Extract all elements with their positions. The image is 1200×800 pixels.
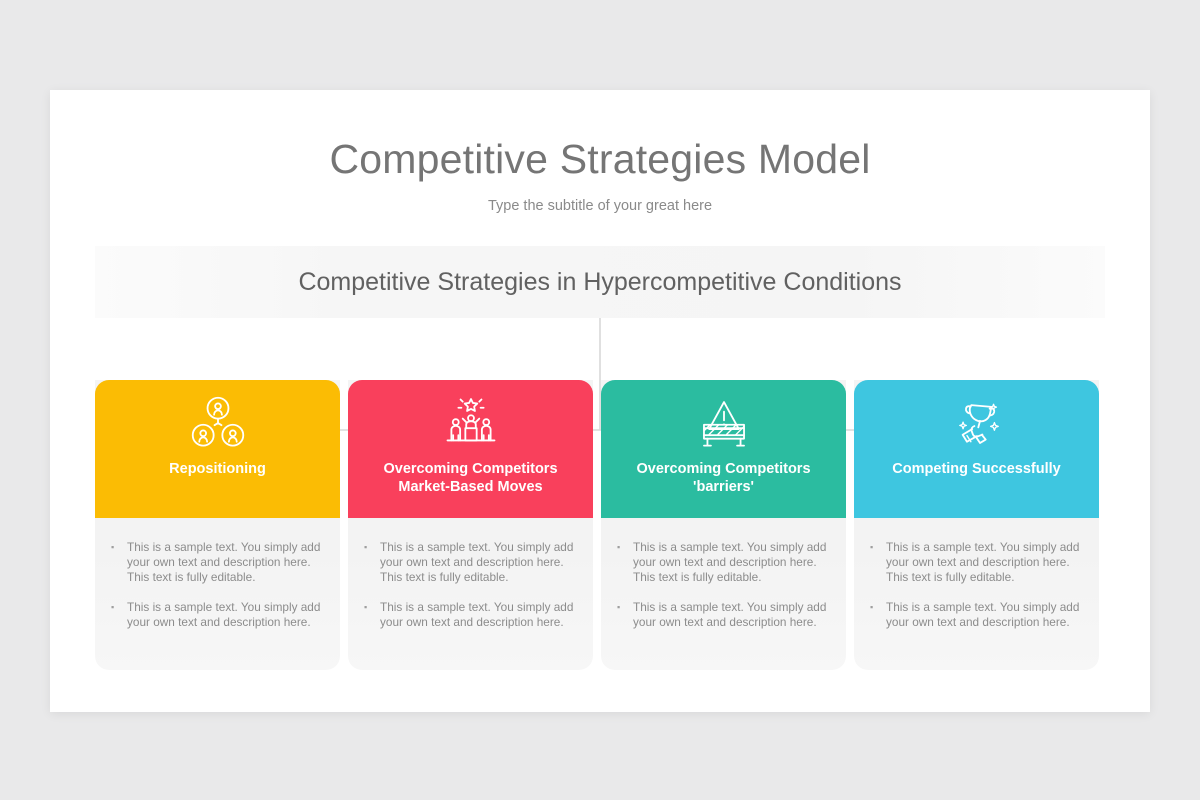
card-barriers[interactable]: Overcoming Competitors 'barriers' (601, 380, 846, 518)
page-title: Competitive Strategies Model (50, 136, 1150, 183)
bullet-text: This is a sample text. You simply add yo… (886, 600, 1081, 630)
bullet-marker: ▪ (870, 600, 886, 630)
list-item: ▪ This is a sample text. You simply add … (870, 600, 1081, 630)
bullet-marker: ▪ (111, 540, 127, 584)
hand-trophy-icon (947, 394, 1007, 452)
card-market-based-moves[interactable]: Overcoming Competitors Market-Based Move… (348, 380, 593, 518)
list-item: ▪ This is a sample text. You simply add … (111, 540, 322, 584)
people-network-icon (188, 394, 248, 452)
list-item: ▪ This is a sample text. You simply add … (617, 540, 828, 584)
bullet-marker: ▪ (617, 600, 633, 630)
column-repositioning: Repositioning ▪ This is a sample text. Y… (95, 380, 340, 646)
column-competing-successfully: Competing Successfully ▪ This is a sampl… (854, 380, 1099, 646)
bullet-text: This is a sample text. You simply add yo… (633, 540, 828, 584)
bullet-list: ▪ This is a sample text. You simply add … (854, 518, 1099, 630)
bullet-list: ▪ This is a sample text. You simply add … (95, 518, 340, 630)
bullet-text: This is a sample text. You simply add yo… (127, 540, 322, 584)
bullet-marker: ▪ (364, 600, 380, 630)
card-title: Repositioning (161, 460, 274, 478)
bullet-marker: ▪ (364, 540, 380, 584)
page-subtitle: Type the subtitle of your great here (50, 198, 1150, 214)
card-title: Overcoming Competitors 'barriers' (601, 460, 846, 496)
bullet-text: This is a sample text. You simply add yo… (633, 600, 828, 630)
list-item: ▪ This is a sample text. You simply add … (364, 600, 575, 630)
card-repositioning[interactable]: Repositioning (95, 380, 340, 518)
slide-canvas: Competitive Strategies Model Type the su… (50, 90, 1150, 712)
list-item: ▪ This is a sample text. You simply add … (870, 540, 1081, 584)
bullet-list: ▪ This is a sample text. You simply add … (601, 518, 846, 630)
card-title: Competing Successfully (884, 460, 1068, 478)
card-title: Overcoming Competitors Market-Based Move… (348, 460, 593, 496)
banner-label: Competitive Strategies in Hypercompetiti… (298, 268, 901, 297)
winner-podium-icon (441, 394, 501, 452)
bullet-list: ▪ This is a sample text. You simply add … (348, 518, 593, 630)
bullet-marker: ▪ (870, 540, 886, 584)
columns-container: Repositioning ▪ This is a sample text. Y… (95, 380, 1105, 646)
bullet-marker: ▪ (111, 600, 127, 630)
list-item: ▪ This is a sample text. You simply add … (111, 600, 322, 630)
bullet-text: This is a sample text. You simply add yo… (380, 540, 575, 584)
column-barriers: Overcoming Competitors 'barriers' ▪ This… (601, 380, 846, 646)
list-item: ▪ This is a sample text. You simply add … (617, 600, 828, 630)
road-barrier-warning-icon (694, 394, 754, 452)
bullet-marker: ▪ (617, 540, 633, 584)
bullet-text: This is a sample text. You simply add yo… (127, 600, 322, 630)
banner: Competitive Strategies in Hypercompetiti… (95, 246, 1105, 318)
column-market-based-moves: Overcoming Competitors Market-Based Move… (348, 380, 593, 646)
card-competing-successfully[interactable]: Competing Successfully (854, 380, 1099, 518)
bullet-text: This is a sample text. You simply add yo… (886, 540, 1081, 584)
list-item: ▪ This is a sample text. You simply add … (364, 540, 575, 584)
bullet-text: This is a sample text. You simply add yo… (380, 600, 575, 630)
